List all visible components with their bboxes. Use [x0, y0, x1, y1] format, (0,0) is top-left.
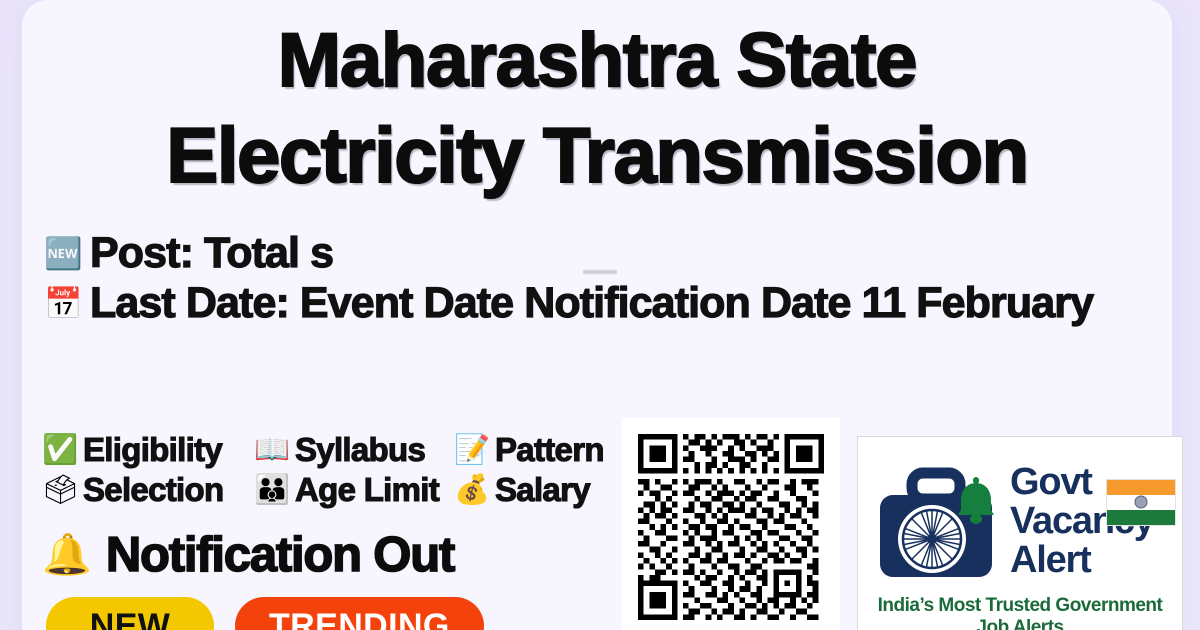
- feature-syllabus-label: Syllabus: [295, 431, 425, 469]
- briefcase-with-ashoka-chakra-and-bell-icon: [870, 455, 1002, 587]
- info-block: 🆕 Post: Total s 📅 Last Date: Event Date …: [44, 228, 1200, 328]
- feature-selection-label: Selection: [83, 471, 223, 509]
- feature-age-limit: 👪 Age Limit: [254, 471, 454, 509]
- feature-salary-label: Salary: [495, 471, 590, 509]
- feature-eligibility-label: Eligibility: [83, 431, 222, 469]
- notification-out: 🔔 Notification Out: [42, 527, 454, 583]
- selection-emoji-icon: 🗳: [42, 476, 74, 505]
- brand-logo-main: Govt Vacancy Alert: [870, 451, 1170, 591]
- qr-code-panel[interactable]: [622, 418, 840, 630]
- info-row-post: 🆕 Post: Total s: [44, 228, 1200, 278]
- new-badge-emoji-icon: 🆕: [44, 238, 78, 269]
- page-title-line-2: Electricity Transmission: [22, 108, 1172, 202]
- page-title-line-1: Maharashtra State: [22, 14, 1172, 108]
- notification-out-text: Notification Out: [106, 527, 454, 583]
- exam-paper-emoji-icon: 📝: [454, 436, 486, 465]
- feature-syllabus: 📖 Syllabus: [254, 431, 454, 469]
- brand-logo-panel: Govt Vacancy Alert India’s Most Trusted …: [857, 436, 1183, 630]
- bell-with-notification-emoji-icon: 🔔: [42, 535, 92, 575]
- open-book-emoji-icon: 📖: [254, 436, 286, 465]
- calendar-emoji-icon: 📅: [44, 288, 78, 319]
- flag-band-saffron: [1107, 480, 1175, 495]
- info-row-post-text: Post: Total s: [90, 229, 333, 278]
- family-emoji-icon: 👪: [254, 476, 286, 505]
- flag-band-white: [1107, 495, 1175, 510]
- check-mark-button-emoji-icon: ✅: [42, 436, 74, 465]
- badge-row: NEW TRENDING: [46, 597, 484, 630]
- flag-band-green: [1107, 510, 1175, 525]
- flag-chakra: [1135, 496, 1148, 509]
- india-flag-icon: [1106, 479, 1176, 526]
- page-title: Maharashtra State Electricity Transmissi…: [22, 14, 1172, 202]
- trending-badge[interactable]: TRENDING: [235, 597, 484, 630]
- brand-tagline: India’s Most Trusted Government Job Aler…: [870, 595, 1170, 630]
- qr-code-icon[interactable]: [638, 434, 824, 620]
- info-row-last-date-text: Last Date: Event Date Notification Date …: [90, 279, 1093, 328]
- poster: Maharashtra State Electricity Transmissi…: [0, 0, 1200, 630]
- feature-age-limit-label: Age Limit: [295, 471, 439, 509]
- info-row-last-date: 📅 Last Date: Event Date Notification Dat…: [44, 278, 1200, 328]
- new-badge[interactable]: NEW: [46, 597, 214, 630]
- brand-word-alert: Alert: [1010, 541, 1154, 580]
- feature-eligibility: ✅ Eligibility: [42, 431, 254, 469]
- money-bag-emoji-icon: 💰: [454, 476, 486, 505]
- feature-pattern-label: Pattern: [495, 431, 604, 469]
- feature-selection: 🗳 Selection: [42, 471, 254, 509]
